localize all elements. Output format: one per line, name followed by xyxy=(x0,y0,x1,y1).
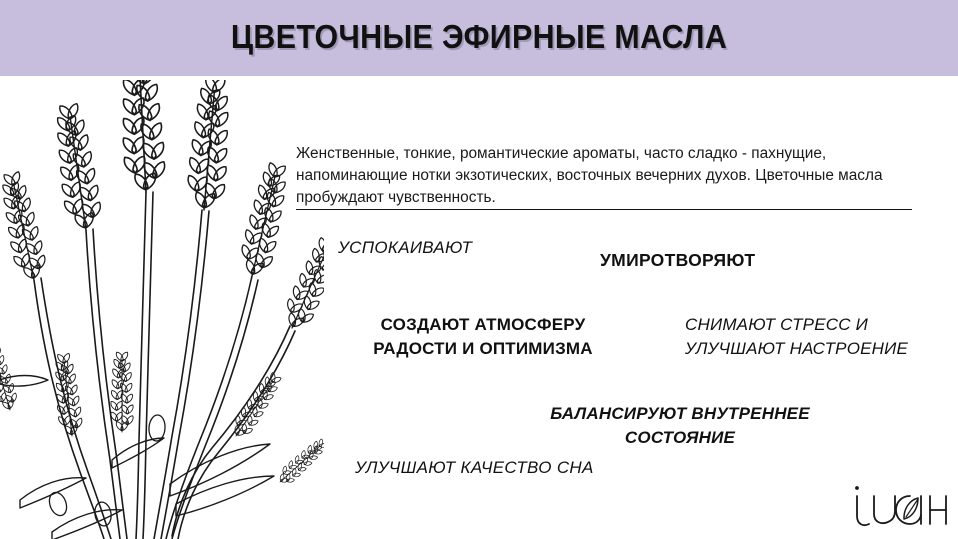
slide-canvas: ЦВЕТОЧНЫЕ ЭФИРНЫЕ МАСЛА xyxy=(0,0,958,539)
benefit-calming: УСПОКАИВАЮТ xyxy=(338,238,472,258)
benefit-joy-optimism: СОЗДАЮТ АТМОСФЕРУ РАДОСТИ И ОПТИМИЗМА xyxy=(358,313,608,361)
brand-logo xyxy=(848,478,952,536)
benefit-peace: УМИРОТВОРЯЮТ xyxy=(600,250,755,271)
lavender-illustration xyxy=(0,80,324,539)
benefit-stress-relief: СНИМАЮТ СТРЕСС И УЛУЧШАЮТ НАСТРОЕНИЕ xyxy=(685,313,925,361)
page-title: ЦВЕТОЧНЫЕ ЭФИРНЫЕ МАСЛА xyxy=(38,18,919,56)
benefit-sleep-quality: УЛУЧШАЮТ КАЧЕСТВО СНА xyxy=(355,458,594,478)
intro-paragraph: Женственные, тонкие, романтические арома… xyxy=(296,143,916,209)
horizontal-divider xyxy=(296,209,912,210)
benefit-inner-balance: БАЛАНСИРУЮТ ВНУТРЕННЕЕ СОСТОЯНИЕ xyxy=(540,402,820,450)
